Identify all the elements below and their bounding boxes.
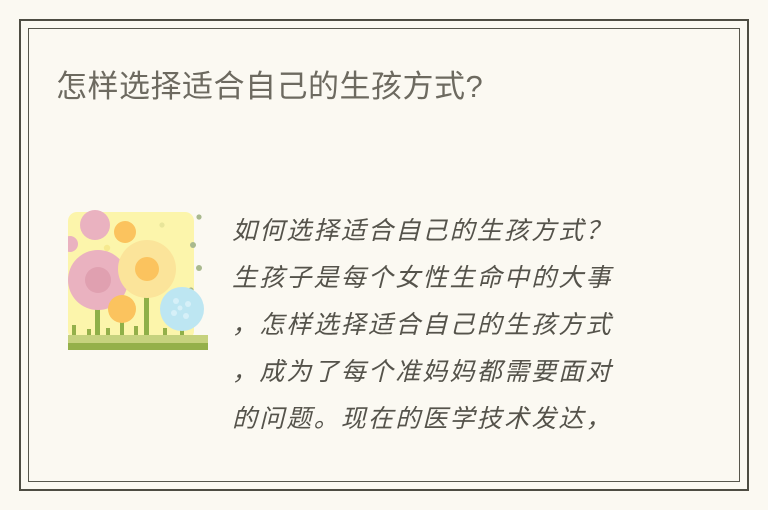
flower-garden-illustration (68, 208, 208, 352)
blue-flower-dot (173, 298, 179, 304)
article-content: 如何选择适合自己的生孩方式？ 生孩子是每个女性生命中的大事 ，怎样选择适合自己的… (56, 200, 716, 450)
decor-dot-icon (196, 265, 202, 271)
pink-circle-top (80, 210, 110, 240)
illustration-svg (68, 208, 208, 352)
body-line: 的问题。现在的医学技术发达， (232, 396, 662, 443)
blue-flower-dot (171, 310, 177, 316)
blue-flower-dot (183, 313, 189, 319)
pink-flower-center (85, 267, 111, 293)
decor-dot-icon (190, 242, 196, 248)
orange-flower-small (108, 295, 136, 323)
body-line: 生孩子是每个女性生命中的大事 (232, 255, 662, 302)
decor-dot-icon (196, 214, 201, 219)
decor-dot-icon (159, 222, 164, 227)
decor-dot-icon (104, 245, 110, 251)
blue-flower-dot (178, 306, 183, 311)
page-title: 怎样选择适合自己的生孩方式? (56, 66, 696, 108)
yellow-circle-top (114, 221, 136, 243)
body-line: 如何选择适合自己的生孩方式？ (232, 208, 662, 255)
body-line: ，怎样选择适合自己的生孩方式 (232, 302, 662, 349)
article-page: 怎样选择适合自己的生孩方式? (0, 0, 768, 510)
article-body: 如何选择适合自己的生孩方式？ 生孩子是每个女性生命中的大事 ，怎样选择适合自己的… (232, 208, 662, 443)
blue-flower-dot (185, 301, 191, 307)
body-line: ，成为了每个准妈妈都需要面对 (232, 349, 662, 396)
ground-line (68, 343, 208, 350)
yellow-flower-center (135, 257, 159, 281)
